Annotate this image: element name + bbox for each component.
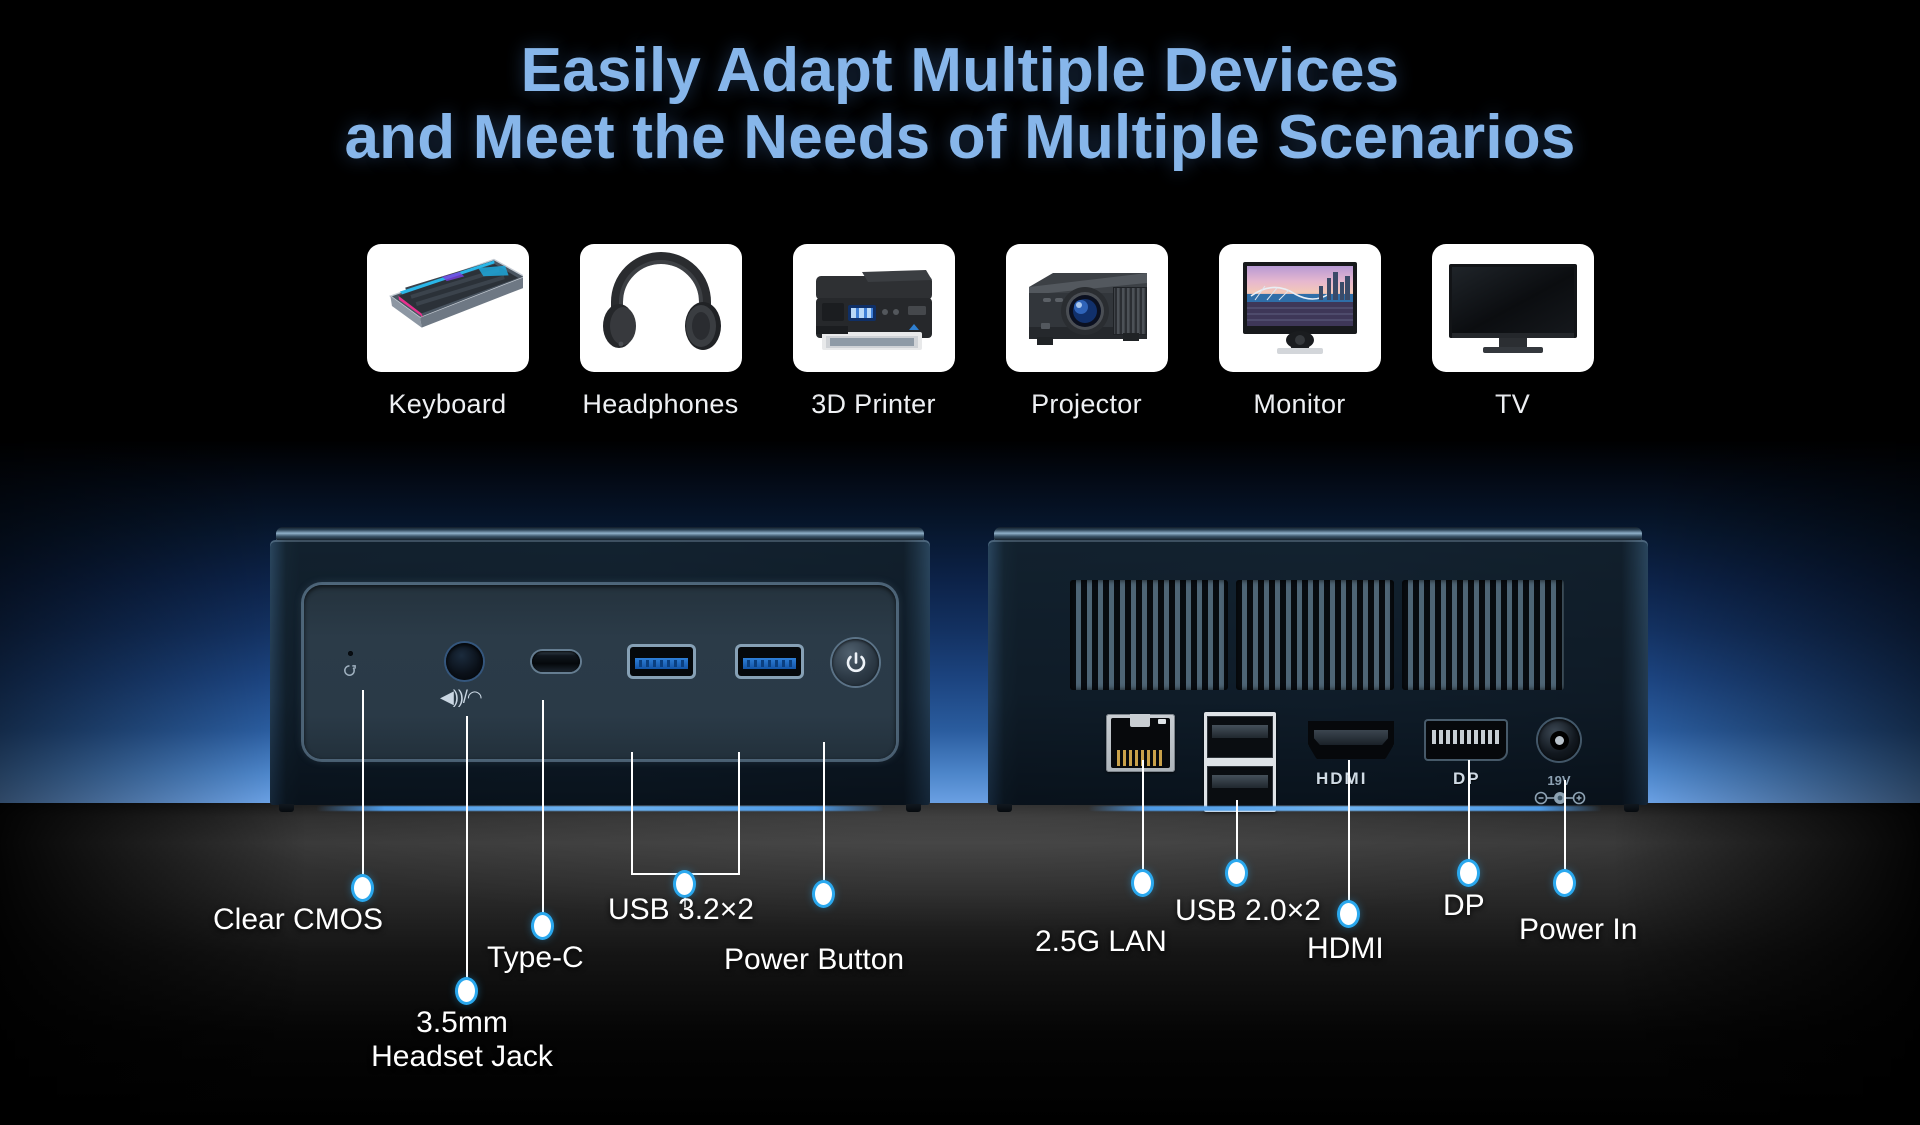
chassis-foot-left-rear <box>997 804 1012 812</box>
dc-polarity-icon <box>1534 790 1586 806</box>
type-c-port[interactable] <box>532 651 580 672</box>
displayport-port-label: DP <box>1453 769 1481 789</box>
mini-pc-front-unit: ◀))/◠ <box>270 527 930 805</box>
background-ground-surface <box>0 803 1920 1125</box>
displayport-port[interactable] <box>1426 721 1506 759</box>
headset-jack-port[interactable] <box>446 643 483 680</box>
device-card-keyboard[interactable] <box>367 244 529 372</box>
device-card-tv[interactable] <box>1432 244 1594 372</box>
power-button[interactable] <box>832 639 879 686</box>
chassis-underglow-strip-rear <box>1088 806 1602 811</box>
device-item-monitor[interactable]: Monitor <box>1212 244 1387 420</box>
device-card-monitor[interactable] <box>1219 244 1381 372</box>
device-label-monitor: Monitor <box>1253 389 1345 420</box>
tv-icon <box>1443 256 1583 360</box>
device-item-headphones[interactable]: Headphones <box>573 244 748 420</box>
device-label-projector: Projector <box>1031 389 1142 420</box>
chassis-underglow-strip <box>316 806 884 811</box>
front-io-ports: ◀))/◠ <box>304 585 896 759</box>
device-card-headphones[interactable] <box>580 244 742 372</box>
device-item-projector[interactable]: Projector <box>999 244 1174 420</box>
lan-port-tab <box>1130 714 1150 727</box>
power-rating-label: 19V <box>1530 774 1588 787</box>
clear-cmos-pinhole[interactable] <box>348 651 353 656</box>
compatible-devices-strip: Keyboard Headphones <box>360 244 1600 420</box>
power-icon <box>843 650 869 676</box>
chassis-front-body: ◀))/◠ <box>270 540 930 805</box>
lan-port-pins <box>1117 750 1164 766</box>
lan-port-led <box>1158 719 1166 724</box>
device-label-keyboard: Keyboard <box>389 389 507 420</box>
device-card-projector[interactable] <box>1006 244 1168 372</box>
printer-icon <box>802 250 946 366</box>
device-card-3d-printer[interactable] <box>793 244 955 372</box>
hdmi-port-label: HDMI <box>1316 769 1367 789</box>
device-label-headphones: Headphones <box>582 389 738 420</box>
usb-3-2-port-2[interactable] <box>738 647 801 676</box>
chassis-foot-right-rear <box>1624 804 1639 812</box>
projector-icon <box>1017 253 1157 363</box>
lan-port-rj45[interactable] <box>1106 714 1175 772</box>
clear-cmos-icon <box>342 663 357 678</box>
chassis-rear-body: HDMI DP 19V <box>988 540 1648 805</box>
chassis-foot-left <box>279 804 294 812</box>
device-label-tv: TV <box>1495 389 1530 420</box>
hdmi-port[interactable] <box>1308 721 1394 759</box>
chassis-foot-right <box>906 804 921 812</box>
page-title: Easily Adapt Multiple Devices and Meet t… <box>0 38 1920 172</box>
displayport-port-cavity <box>1432 730 1500 744</box>
dc-power-center-pin <box>1555 736 1564 745</box>
speaker-headphone-icon: ◀))/◠ <box>440 687 482 708</box>
dc-power-in-port[interactable] <box>1538 719 1580 761</box>
vent-grille-left <box>1070 580 1228 690</box>
vent-grille-right <box>1402 580 1564 690</box>
device-item-tv[interactable]: TV <box>1425 244 1600 420</box>
usb-2-0-port-stack[interactable] <box>1204 712 1276 812</box>
vent-grille-center <box>1236 580 1394 690</box>
monitor-icon <box>1233 252 1367 364</box>
device-item-3d-printer[interactable]: 3D Printer <box>786 244 961 420</box>
chassis-top-lid <box>276 527 924 540</box>
chassis-top-lid-rear <box>994 527 1642 540</box>
headphones-icon <box>597 252 725 364</box>
keyboard-icon <box>373 251 523 366</box>
front-io-recess: ◀))/◠ <box>304 585 896 759</box>
device-label-3d-printer: 3D Printer <box>811 389 936 420</box>
usb-2-0-port-top[interactable] <box>1207 716 1273 758</box>
hdmi-port-cavity <box>1314 730 1388 745</box>
mini-pc-rear-unit: HDMI DP 19V <box>988 527 1648 805</box>
usb-3-2-port-1[interactable] <box>630 647 693 676</box>
usb-2-0-port-bottom[interactable] <box>1207 766 1273 808</box>
device-item-keyboard[interactable]: Keyboard <box>360 244 535 420</box>
